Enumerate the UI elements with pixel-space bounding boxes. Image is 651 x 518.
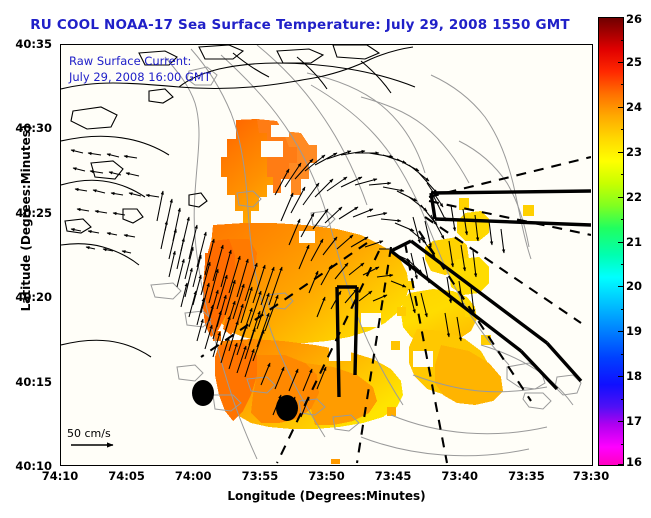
cbar-tick-20: 20 xyxy=(626,279,642,293)
cbar-tick-17: 17 xyxy=(626,414,642,428)
cbar-tick-25: 25 xyxy=(626,55,642,69)
map-canvas xyxy=(61,45,591,464)
cbar-tick-16: 16 xyxy=(626,455,642,469)
map-plot-area[interactable]: Raw Surface Current: July 29, 2008 16:00… xyxy=(60,44,593,466)
x-tick-2: 74:00 xyxy=(175,469,212,483)
annotation-line-1: Raw Surface Current: xyxy=(69,53,211,69)
x-tick-3: 73:55 xyxy=(242,469,279,483)
x-tick-1: 74:05 xyxy=(108,469,145,483)
scalebar-label: 50 cm/s xyxy=(67,427,111,440)
cbar-tick-21: 21 xyxy=(626,235,642,249)
current-annotation: Raw Surface Current: July 29, 2008 16:00… xyxy=(69,53,211,85)
cbar-tick-19: 19 xyxy=(626,324,642,338)
x-axis-tick-labels: 74:10 74:05 74:00 73:55 73:50 73:45 73:4… xyxy=(60,469,593,487)
cbar-tick-22: 22 xyxy=(626,190,642,204)
y-axis-title: Latitude (Degrees:Minutes) xyxy=(19,98,33,338)
y-tick-0: 40:35 xyxy=(15,37,52,51)
colorbar-minor-ticks xyxy=(598,17,624,466)
x-tick-8: 73:30 xyxy=(573,469,610,483)
annotation-line-2: July 29, 2008 16:00 GMT xyxy=(69,69,211,85)
x-tick-5: 73:45 xyxy=(375,469,412,483)
x-tick-0: 74:10 xyxy=(42,469,79,483)
colorbar-tick-labels: 26 25 24 23 22 21 20 19 18 17 16 xyxy=(626,17,650,466)
cbar-tick-24: 24 xyxy=(626,100,642,114)
x-tick-6: 73:40 xyxy=(441,469,478,483)
x-axis-title: Longitude (Degrees:Minutes) xyxy=(60,489,593,503)
x-tick-4: 73:50 xyxy=(308,469,345,483)
cbar-tick-26: 26 xyxy=(626,12,642,26)
station-marker-west[interactable] xyxy=(192,380,214,406)
x-tick-7: 73:35 xyxy=(508,469,545,483)
cbar-tick-23: 23 xyxy=(626,145,642,159)
y-tick-4: 40:15 xyxy=(15,375,52,389)
cbar-tick-18: 18 xyxy=(626,369,642,383)
sst-figure: RU COOL NOAA-17 Sea Surface Temperature:… xyxy=(0,0,651,518)
sst-raster-field xyxy=(203,107,534,464)
page-title: RU COOL NOAA-17 Sea Surface Temperature:… xyxy=(0,17,600,33)
station-marker-east[interactable] xyxy=(276,395,298,421)
